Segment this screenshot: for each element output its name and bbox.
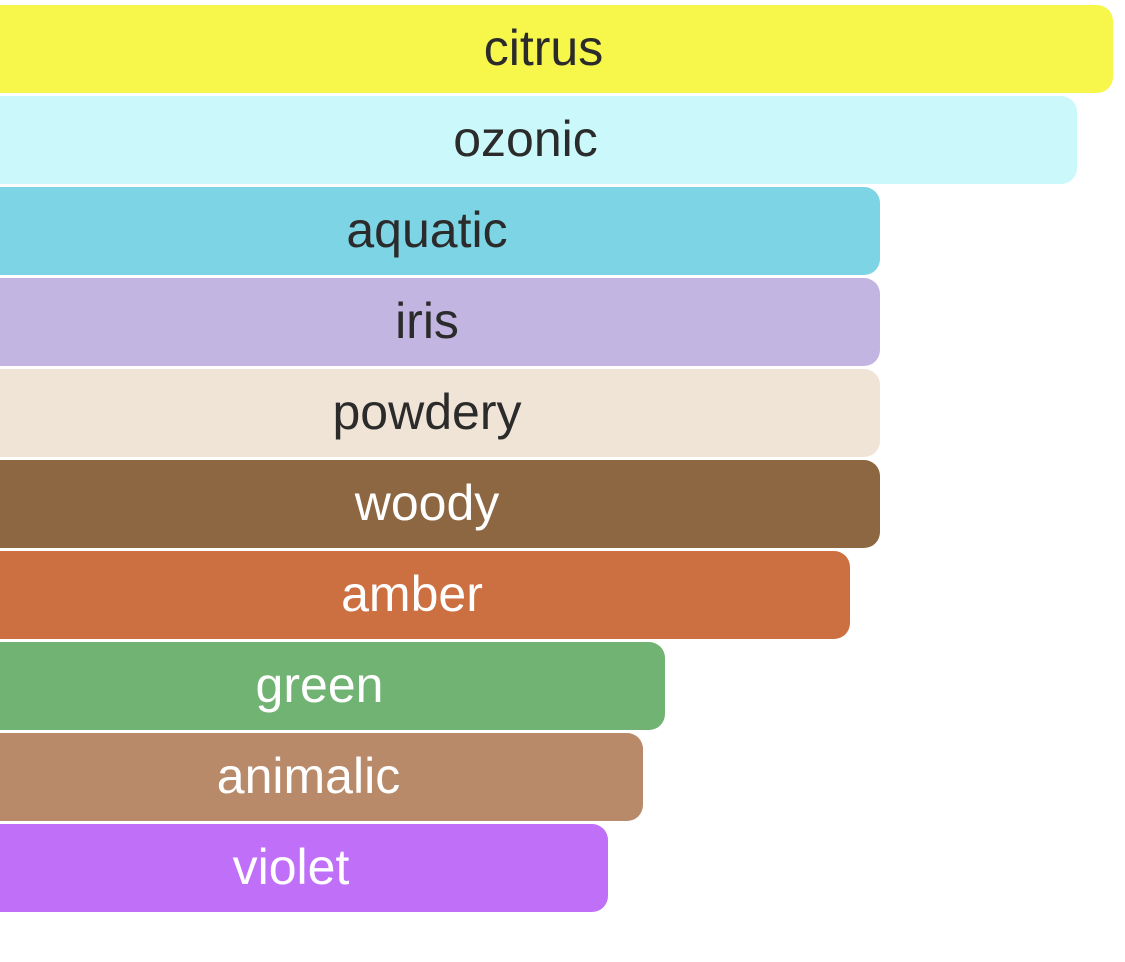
bar-amber[interactable]: amber — [0, 551, 850, 639]
bar-label: green — [256, 660, 384, 713]
bar-label: animalic — [217, 751, 400, 804]
bar-label: citrus — [484, 23, 603, 76]
bar-animalic[interactable]: animalic — [0, 733, 643, 821]
bar-label: woody — [355, 478, 500, 531]
bar-iris[interactable]: iris — [0, 278, 880, 366]
bar-woody[interactable]: woody — [0, 460, 880, 548]
bar-ozonic[interactable]: ozonic — [0, 96, 1077, 184]
bar-citrus[interactable]: citrus — [0, 5, 1113, 93]
bar-aquatic[interactable]: aquatic — [0, 187, 880, 275]
bar-chart-plot-area: citrusozonicaquaticirispowderywoodyamber… — [0, 0, 1125, 962]
bar-label: violet — [233, 842, 350, 895]
bar-label: ozonic — [453, 114, 598, 167]
bar-powdery[interactable]: powdery — [0, 369, 880, 457]
bar-label: aquatic — [346, 205, 507, 258]
bar-violet[interactable]: violet — [0, 824, 608, 912]
bar-label: amber — [341, 569, 483, 622]
bar-chart: citrusozonicaquaticirispowderywoodyamber… — [0, 0, 1125, 962]
bar-label: iris — [395, 296, 459, 349]
bar-label: powdery — [333, 387, 522, 440]
bar-green[interactable]: green — [0, 642, 665, 730]
